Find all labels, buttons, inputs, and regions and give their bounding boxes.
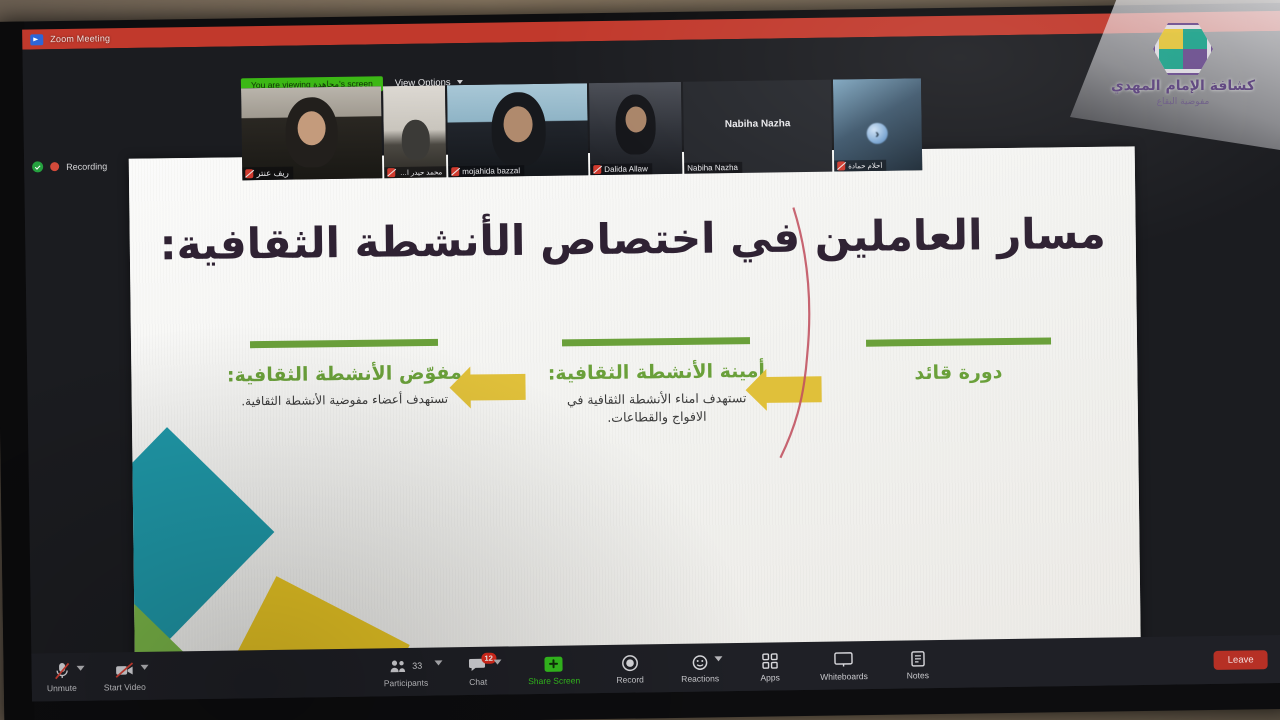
emblem-quadrant xyxy=(1159,29,1183,49)
person-silhouette xyxy=(401,120,430,160)
chevron-up-icon[interactable] xyxy=(76,665,84,670)
participant-name: Dalida Allaw xyxy=(604,164,648,174)
record-icon xyxy=(621,653,638,672)
participant-name: mojahida bazzal xyxy=(462,166,520,176)
unmute-button[interactable]: Unmute xyxy=(41,661,81,693)
participant-tile[interactable]: ريف عنتر xyxy=(241,86,382,180)
apps-label: Apps xyxy=(760,672,780,682)
column-subtext: تستهدف أعضاء مفوضية الأنشطة الثقافية. xyxy=(200,390,490,411)
column-heading: مفوّض الأنشطة الثقافية: xyxy=(199,361,489,387)
emblem-quadrant xyxy=(1183,29,1207,49)
chevron-up-icon[interactable] xyxy=(714,656,722,661)
chat-bubble-icon: 12 xyxy=(468,655,487,674)
video-muted-icon xyxy=(114,660,134,679)
column-divider-bar xyxy=(865,337,1050,346)
notes-icon xyxy=(910,649,925,668)
whiteboard-icon xyxy=(834,650,854,669)
chevron-up-icon[interactable] xyxy=(493,659,501,664)
participant-name-bar: ريف عنتر xyxy=(242,167,293,181)
mic-muted-icon xyxy=(593,165,601,174)
mic-muted-icon xyxy=(837,161,845,170)
whiteboards-button[interactable]: Whiteboards xyxy=(820,650,868,682)
participant-name: Nabiha Nazha xyxy=(687,163,738,173)
participant-tile[interactable]: محمد حيدر الظاهر xyxy=(383,85,446,178)
slide-column-cultural-secretary: أمينة الأنشطة الثقافية: تستهدف امناء الأ… xyxy=(531,337,782,428)
column-subtext: تستهدف امناء الأنشطة الثقافية في الافواج… xyxy=(532,389,782,428)
start-video-label: Start Video xyxy=(104,681,146,692)
participant-name-bar: أحلام حمادة xyxy=(834,160,886,172)
reactions-label: Reactions xyxy=(681,673,719,684)
encryption-shield-icon[interactable] xyxy=(32,161,43,172)
participant-name-bar: mojahida bazzal xyxy=(448,165,524,177)
column-heading: أمينة الأنشطة الثقافية: xyxy=(531,360,781,385)
participant-name: أحلام حمادة xyxy=(848,161,882,170)
recording-indicator[interactable]: Recording xyxy=(32,160,107,172)
participant-name: ريف عنتر xyxy=(256,168,289,179)
unmute-label: Unmute xyxy=(47,682,77,692)
reactions-icon xyxy=(691,652,708,671)
zoom-logo-icon xyxy=(30,34,43,45)
mic-muted-icon xyxy=(451,167,459,176)
window-title: Zoom Meeting xyxy=(50,33,110,44)
video-feed xyxy=(447,83,588,177)
organization-subtitle: مفوضية البقاع xyxy=(1157,97,1210,107)
pen-annotation-scribble xyxy=(749,205,862,466)
participants-button[interactable]: 33 Participants xyxy=(383,656,428,688)
chat-label: Chat xyxy=(469,676,487,686)
emblem-quadrant xyxy=(1183,49,1207,69)
apps-button[interactable]: Apps xyxy=(750,651,790,683)
whiteboards-label: Whiteboards xyxy=(820,671,868,682)
participant-tile[interactable]: Nabiha Nazha Nabiha Nazha xyxy=(683,80,832,174)
photo-of-laptop-screen: Zoom Meeting Recording مسار العاملين في xyxy=(0,0,1280,720)
recording-label: Recording xyxy=(66,161,107,172)
record-label: Record xyxy=(616,674,644,684)
column-divider-bar xyxy=(562,337,750,346)
reactions-button[interactable]: Reactions xyxy=(680,652,720,684)
participant-tile[interactable]: mojahida bazzal xyxy=(447,83,588,177)
participant-name-bar: محمد حيدر الظاهر xyxy=(384,166,446,178)
participant-filmstrip: ريف عنتر محمد حيدر الظاهر xyxy=(241,68,924,180)
participant-name: محمد حيدر الظاهر xyxy=(398,168,442,177)
flow-arrow-middle-to-left xyxy=(469,374,525,401)
emblem-quadrant xyxy=(1159,49,1183,69)
video-feed xyxy=(383,85,446,178)
shared-screen-slide: مسار العاملين في اختصاص الأنشطة الثقافية… xyxy=(129,146,1141,681)
toolbar-right-group: Leave xyxy=(1214,649,1268,670)
record-button[interactable]: Record xyxy=(610,653,650,685)
record-dot-icon xyxy=(50,162,59,171)
leave-button[interactable]: Leave xyxy=(1214,650,1268,670)
organization-watermark: كشافة الإمام المهدي مفوضية البقاع xyxy=(1094,6,1272,124)
organization-name: كشافة الإمام المهدي xyxy=(1111,78,1255,94)
mic-muted-icon xyxy=(245,169,253,178)
chevron-up-icon[interactable] xyxy=(434,660,442,665)
share-screen-icon xyxy=(544,654,564,673)
slide-column-leader-course: دورة قائد xyxy=(843,337,1074,385)
participant-tile[interactable]: Dalida Allaw xyxy=(589,82,682,175)
person-face xyxy=(625,106,646,132)
share-screen-label: Share Screen xyxy=(528,675,580,686)
share-screen-button[interactable]: Share Screen xyxy=(528,654,580,686)
meeting-body: Recording مسار العاملين في اختصاص الأنشط… xyxy=(22,31,1280,702)
participants-icon: 33 xyxy=(389,656,422,675)
participants-count: 33 xyxy=(412,661,422,671)
apps-grid-icon xyxy=(761,651,778,670)
participant-display-name: Nabiha Nazha xyxy=(684,118,832,131)
chevron-up-icon[interactable] xyxy=(140,664,148,669)
toolbar-center-group: 33 Participants 12 xyxy=(383,649,938,688)
microphone-muted-icon xyxy=(53,661,70,680)
mic-muted-icon xyxy=(387,168,395,177)
participants-label: Participants xyxy=(384,677,429,688)
scouts-hex-emblem-icon xyxy=(1153,23,1213,75)
toolbar-left-group: Unmute Start Video xyxy=(41,660,145,693)
slide-column-cultural-commissioner: مفوّض الأنشطة الثقافية: تستهدف أعضاء مفو… xyxy=(199,338,490,411)
participant-name-bar: Nabiha Nazha xyxy=(684,162,742,174)
participant-name-bar: Dalida Allaw xyxy=(590,163,652,175)
column-divider-bar xyxy=(250,339,438,348)
video-feed xyxy=(589,82,682,175)
column-heading: دورة قائد xyxy=(843,360,1073,385)
notes-button[interactable]: Notes xyxy=(897,649,937,681)
chat-button[interactable]: 12 Chat xyxy=(458,655,498,687)
notes-label: Notes xyxy=(907,670,929,680)
start-video-button[interactable]: Start Video xyxy=(103,660,145,692)
